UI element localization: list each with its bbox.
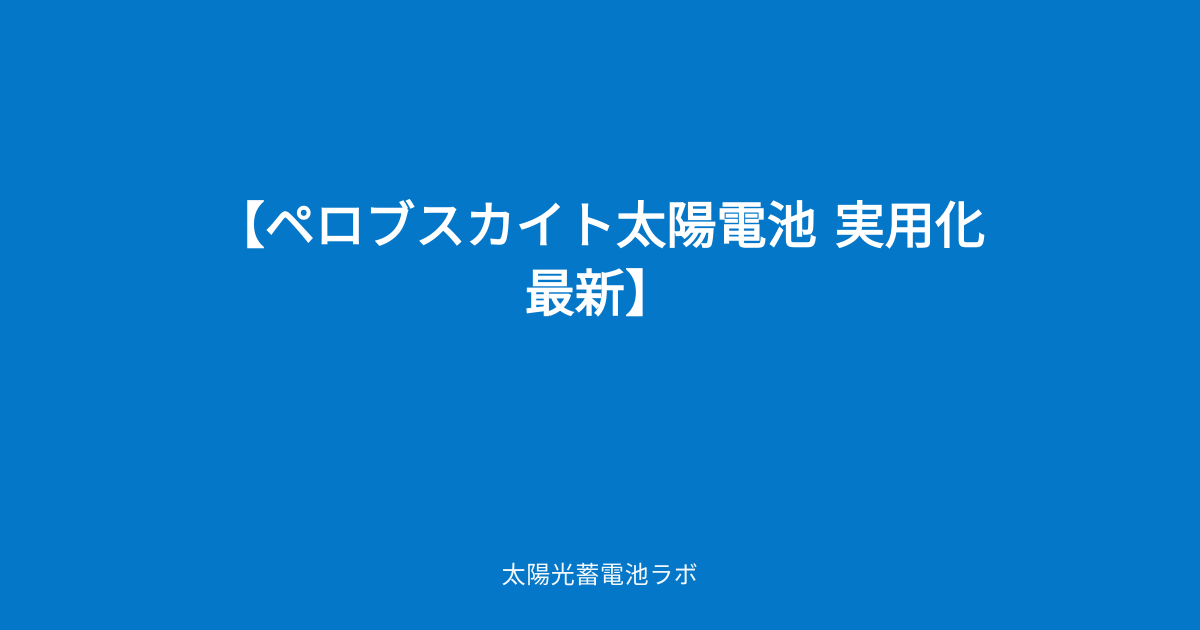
footer-region: 太陽光蓄電池ラボ [0, 520, 1200, 630]
page-title: 【ペロブスカイト太陽電池 実用化 最新】 [214, 192, 986, 328]
title-region: 【ペロブスカイト太陽電池 実用化 最新】 [0, 0, 1200, 520]
ogp-card: 【ペロブスカイト太陽電池 実用化 最新】 太陽光蓄電池ラボ [0, 0, 1200, 630]
site-name: 太陽光蓄電池ラボ [502, 560, 699, 590]
